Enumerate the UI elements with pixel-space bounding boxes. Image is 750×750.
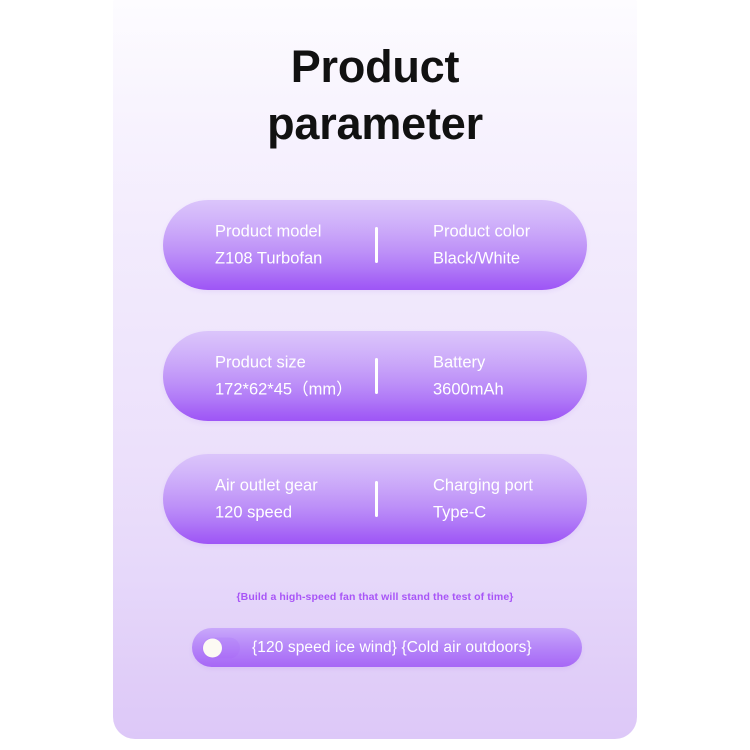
spec-card-product-size: Product size 172*62*45（mm） Battery 3600m…: [163, 331, 587, 421]
spec-value: Z108 Turbofan: [215, 245, 322, 272]
spec-value: 3600mAh: [433, 376, 504, 403]
screenshot-root: Product parameter Product model Z108 Tur…: [0, 0, 750, 750]
spec-label: Product model: [215, 218, 322, 245]
spec-column-left: Product model Z108 Turbofan: [215, 218, 322, 271]
spec-column-left: Air outlet gear 120 speed: [215, 472, 318, 525]
feature-banner-text: {120 speed ice wind} {Cold air outdoors}: [252, 639, 532, 657]
spec-column-right: Product color Black/White: [433, 218, 530, 271]
spec-label: Battery: [433, 349, 504, 376]
spec-label: Product size: [215, 349, 353, 376]
spec-card-inner: Product model Z108 Turbofan Product colo…: [163, 200, 587, 290]
feature-banner[interactable]: {120 speed ice wind} {Cold air outdoors}: [192, 628, 582, 667]
tagline-caption: {Build a high-speed fan that will stand …: [113, 591, 637, 603]
toggle-switch-icon[interactable]: [202, 637, 240, 658]
spec-divider: [375, 481, 378, 517]
spec-column-left: Product size 172*62*45（mm）: [215, 349, 353, 402]
page-title-line-2: parameter: [113, 95, 637, 152]
spec-card-inner: Product size 172*62*45（mm） Battery 3600m…: [163, 331, 587, 421]
spec-label: Charging port: [433, 472, 533, 499]
spec-label: Air outlet gear: [215, 472, 318, 499]
spec-column-right: Charging port Type-C: [433, 472, 533, 525]
spec-value: 120 speed: [215, 499, 318, 526]
spec-card-product-model: Product model Z108 Turbofan Product colo…: [163, 200, 587, 290]
page-title: Product parameter: [113, 38, 637, 152]
spec-divider: [375, 358, 378, 394]
spec-value: 172*62*45（mm）: [215, 376, 353, 403]
spec-value: Black/White: [433, 245, 530, 272]
spec-divider: [375, 227, 378, 263]
page-title-line-1: Product: [113, 38, 637, 95]
spec-card-air-outlet-gear: Air outlet gear 120 speed Charging port …: [163, 454, 587, 544]
spec-value: Type-C: [433, 499, 533, 526]
spec-card-inner: Air outlet gear 120 speed Charging port …: [163, 454, 587, 544]
spec-column-right: Battery 3600mAh: [433, 349, 504, 402]
product-parameter-panel: Product parameter Product model Z108 Tur…: [113, 0, 637, 739]
spec-label: Product color: [433, 218, 530, 245]
